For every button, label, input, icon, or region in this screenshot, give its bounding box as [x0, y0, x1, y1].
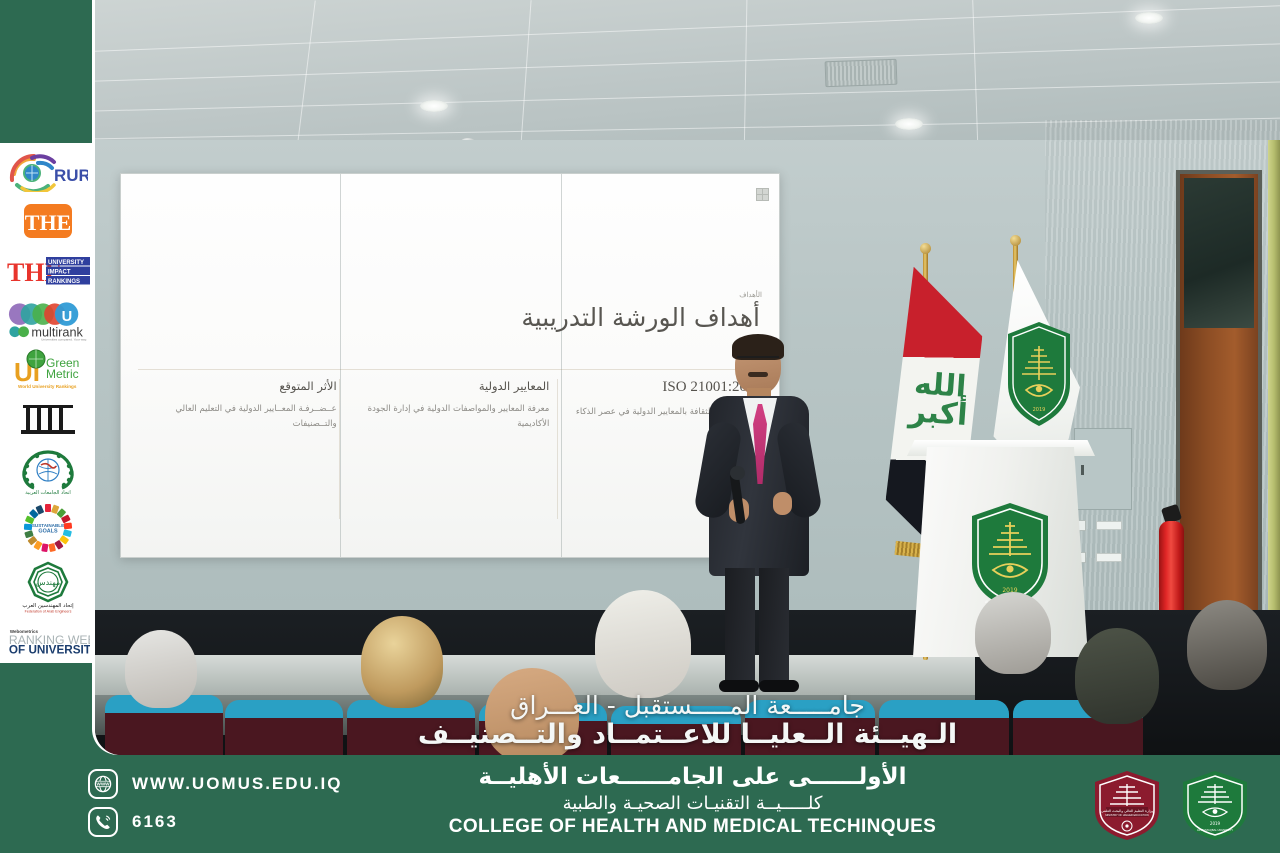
svg-text:RUR: RUR — [54, 166, 88, 185]
u-multirank-badge: U multirank Universities compared. Your … — [6, 297, 90, 342]
slide-column: المعايير الدولية معرفة المعايير والمواصف… — [351, 379, 550, 435]
air-vent — [825, 59, 898, 87]
unesco-badge — [6, 396, 90, 441]
banner-headline-english: COLLEGE OF HEALTH AND MEDICAL TECHINQUES — [330, 815, 1055, 840]
slide-column-body: عــضــرفـة المعــايير الدولية في التعليم… — [138, 402, 337, 432]
ministry-shield-logo: وزارة التعليم العالي والبحث العلمي MINIS… — [1090, 768, 1164, 842]
svg-text:RANKINGS: RANKINGS — [48, 279, 80, 285]
the-impact-rankings-badge: THE UNIVERSITY IMPACT RANKINGS — [6, 248, 90, 293]
phone-row[interactable]: 6163 — [88, 807, 342, 837]
banner-titles: الأولــــــى على الجامــــــعات الأهليــ… — [330, 763, 1055, 840]
association-of-arab-universities-badge: اتحاد الجامعات العربية — [6, 446, 90, 496]
accreditation-badges: RUR THE THE UNIVERSITY IMPACT RANKINGS — [0, 143, 95, 663]
svg-text:IMPACT: IMPACT — [48, 269, 71, 275]
svg-text:2019: 2019 — [1210, 821, 1221, 826]
banner-headline-arabic: الأولــــــى على الجامــــــعات الأهليــ… — [330, 763, 1055, 792]
svg-text:THE: THE — [24, 210, 70, 235]
lecture-hall-scene: الأهداف أهداف الورشة التدريبية ISO 21001… — [95, 0, 1280, 755]
photo-caption-line-2: الـهيــئة الــعليــا للاعــتمــاد والتــ… — [95, 721, 1280, 749]
svg-text:اتحاد الجامعات العربية: اتحاد الجامعات العربية — [25, 490, 71, 496]
slide-column-body: معرفة المعايير والمواصفات الدولية في إدا… — [351, 402, 550, 432]
banner-subhead-arabic: كلـــــيــة التقنيـات الصحيـة والطبية — [330, 792, 1055, 815]
audience-head — [1187, 600, 1267, 690]
webometrics-ranking-web-badge: Webometrics RANKING WEB OF UNIVERSITIES — [6, 618, 90, 663]
svg-text:World University Rankings: World University Rankings — [18, 384, 77, 389]
wall-label-plate — [1096, 521, 1122, 530]
website-label: WWW.UOMUS.EDU.IQ — [132, 774, 342, 794]
svg-text:Universities compared. Your wa: Universities compared. Your way. — [41, 337, 87, 340]
photo-caption-line-1: جامـــــعة المـــــستقبل - العـــراق — [95, 692, 1280, 721]
svg-text:Metric: Metric — [46, 367, 79, 381]
svg-text:MINISTRY OF HIGHER EDUCATION: MINISTRY OF HIGHER EDUCATION — [1105, 813, 1148, 817]
ceiling-downlight — [895, 118, 923, 130]
audience-head — [975, 592, 1051, 674]
phone-label: 6163 — [132, 812, 178, 832]
fire-extinguisher — [1159, 521, 1184, 616]
slide-column-head: المعايير الدولية — [351, 379, 550, 393]
the-ranking-badge: THE — [6, 198, 90, 243]
university-flag-emblem: 2019 — [1000, 318, 1078, 430]
svg-text:WWW: WWW — [96, 782, 110, 787]
door-glass-panel — [1184, 178, 1254, 328]
presentation-slide: الأهداف أهداف الورشة التدريبية ISO 21001… — [120, 173, 780, 558]
svg-text:2019: 2019 — [1033, 407, 1046, 413]
svg-text:SUSTAINABLE: SUSTAINABLE — [31, 523, 63, 528]
slide-column-head: الأثر المتوقع — [138, 379, 337, 393]
svg-text:UNIVERSITY: UNIVERSITY — [48, 260, 84, 266]
wall-label-plate — [1096, 553, 1122, 562]
ceiling-downlight — [420, 100, 448, 112]
audience-head — [595, 590, 691, 698]
federation-of-arab-engineers-badge: مهندس إتحاد المهندسين العرب Federation o… — [6, 560, 90, 614]
svg-text:Federation of Arab Engineers: Federation of Arab Engineers — [24, 609, 71, 613]
slide-divider — [138, 369, 762, 370]
svg-text:مهندس: مهندس — [35, 578, 59, 587]
svg-text:OF UNIVERSITIES: OF UNIVERSITIES — [8, 644, 89, 655]
flag-pole-finial — [920, 243, 931, 254]
speaker-with-microphone — [687, 330, 837, 690]
ui-greenmetric-badge: UI Green Metric World University Ranking… — [6, 347, 90, 392]
slide-tag: الأهداف — [739, 291, 762, 299]
wooden-door — [1176, 170, 1262, 650]
event-photo: الأهداف أهداف الورشة التدريبية ISO 21001… — [95, 0, 1280, 755]
globe-www-icon: WWW — [88, 769, 118, 799]
door-frame-edge — [1268, 140, 1280, 660]
bottom-banner: WWW WWW.UOMUS.EDU.IQ 6163 الأولــــــى ع… — [0, 755, 1280, 853]
slide-column: الأثر المتوقع عــضــرفـة المعــايير الدو… — [138, 379, 337, 435]
rur-ranking-badge: RUR — [6, 149, 90, 194]
ceiling-downlight — [1135, 12, 1163, 24]
svg-text:AL-MUSTAQBAL UNIVERSITY: AL-MUSTAQBAL UNIVERSITY — [1197, 828, 1233, 832]
svg-text:وزارة التعليم العالي والبحث ال: وزارة التعليم العالي والبحث العلمي — [1101, 809, 1153, 813]
photo-caption: جامـــــعة المـــــستقبل - العـــراق الـ… — [95, 692, 1280, 749]
svg-text:GOALS: GOALS — [38, 528, 58, 534]
phone-icon — [88, 807, 118, 837]
website-row[interactable]: WWW WWW.UOMUS.EDU.IQ — [88, 769, 342, 799]
sustainable-development-goals-badge: SUSTAINABLE GOALS — [6, 500, 90, 556]
al-mustaqbal-university-shield-logo: 2019 AL-MUSTAQBAL UNIVERSITY — [1178, 768, 1252, 842]
poster-canvas: RUR THE THE UNIVERSITY IMPACT RANKINGS — [0, 0, 1280, 853]
slide-title: أهداف الورشة التدريبية — [521, 303, 760, 332]
banner-logos: وزارة التعليم العالي والبحث العلمي MINIS… — [1090, 768, 1252, 842]
svg-text:U: U — [61, 309, 72, 325]
svg-text:إتحاد المهندسين العرب: إتحاد المهندسين العرب — [22, 603, 74, 609]
flag-pole-finial — [1010, 235, 1021, 246]
contact-block: WWW WWW.UOMUS.EDU.IQ 6163 — [88, 769, 342, 837]
